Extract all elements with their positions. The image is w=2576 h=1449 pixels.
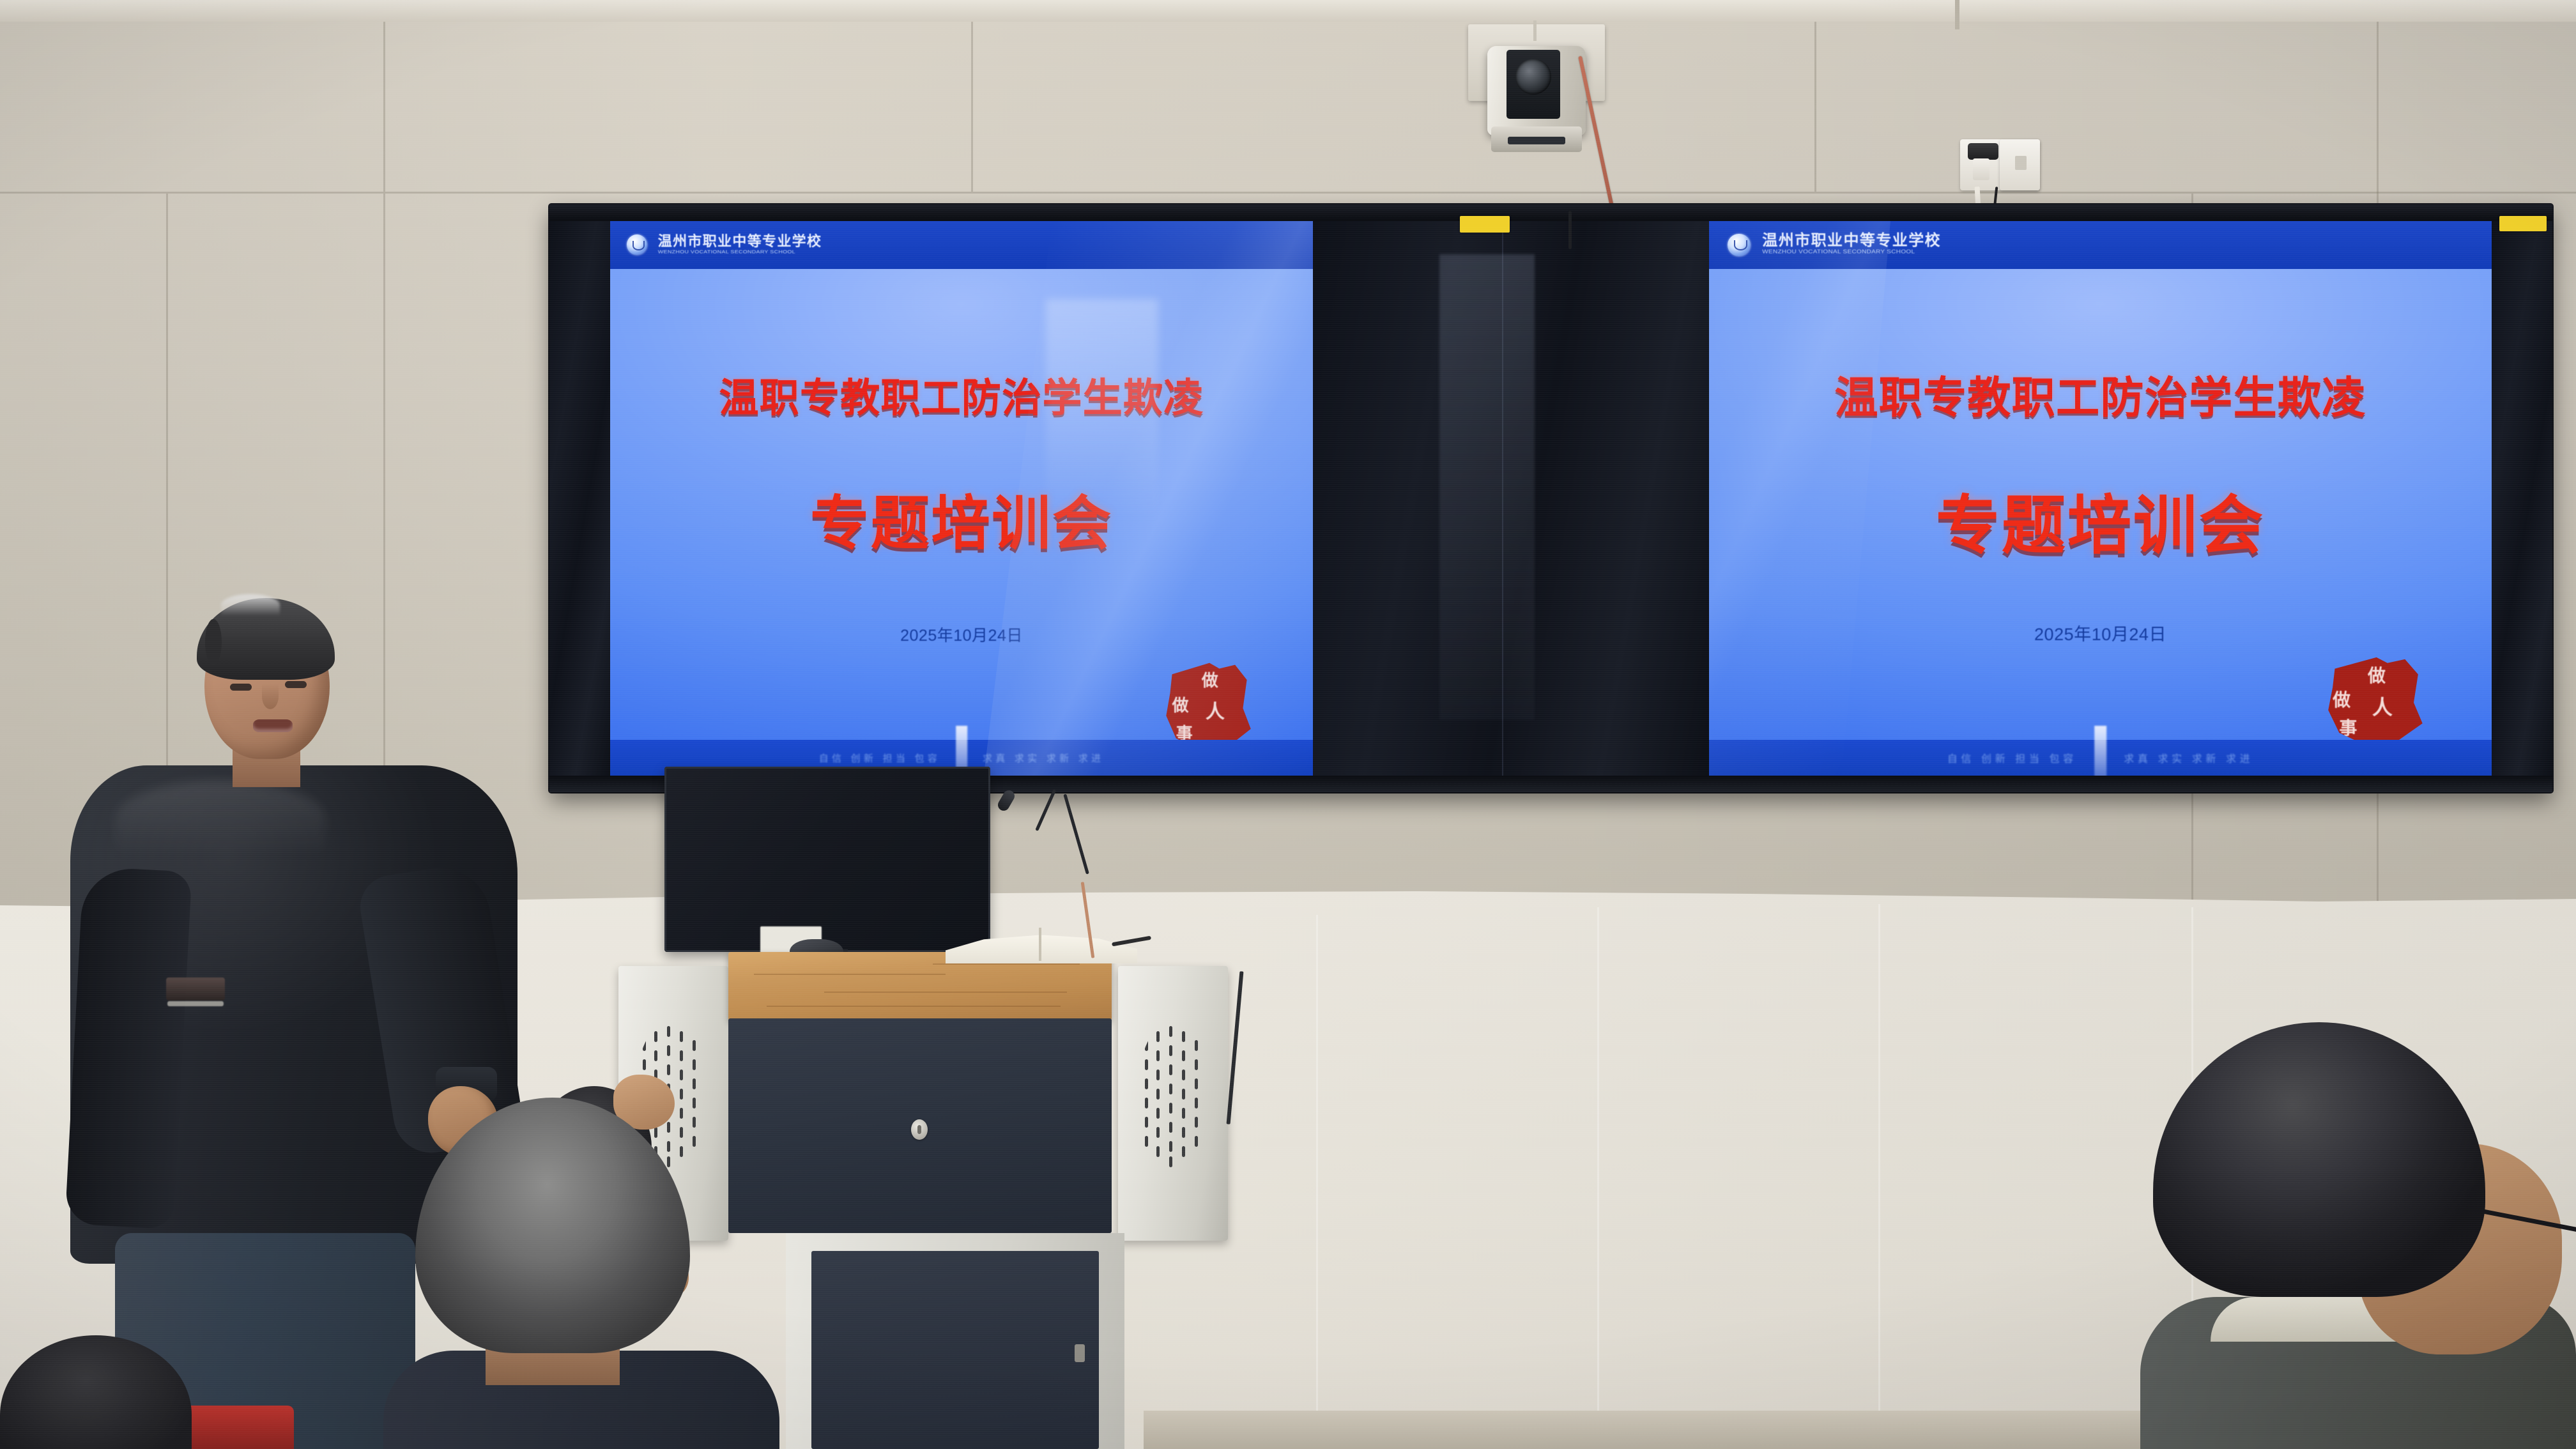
audience-member-grey-hair bbox=[377, 1098, 786, 1449]
chair-backrest[interactable] bbox=[179, 1406, 294, 1449]
desk-monitor[interactable] bbox=[664, 767, 990, 952]
school-name-cn: 温州市职业中等专业学校 bbox=[658, 234, 822, 249]
presenter-nose bbox=[262, 684, 279, 709]
slide-title-line1: 温职专教职工防治学生欺凌 bbox=[1709, 362, 2492, 425]
wall-seam bbox=[1597, 907, 1599, 1449]
slide-footer-left: 自信 创新 担当 包容 bbox=[1947, 750, 2077, 765]
seal-char-1: 做 bbox=[2368, 667, 2386, 685]
wall-seam bbox=[0, 192, 2576, 194]
seal-char-2: 做 bbox=[1172, 697, 1189, 714]
slide-header: 温州市职业中等专业学校 WENZHOU VOCATIONAL SECONDARY… bbox=[610, 221, 1313, 269]
outlet-socket bbox=[2015, 156, 2027, 170]
lectern-door-handle[interactable] bbox=[1075, 1344, 1085, 1362]
service-sticker bbox=[1460, 216, 1510, 233]
school-name-block: 温州市职业中等专业学校 WENZHOU VOCATIONAL SECONDARY… bbox=[658, 234, 822, 256]
camera-stalk bbox=[1533, 20, 1537, 41]
presenter-left-arm bbox=[65, 866, 192, 1229]
wall-seam bbox=[1878, 904, 1880, 1449]
power-plug-black bbox=[1968, 143, 1998, 160]
presenter-eye-right bbox=[285, 681, 307, 688]
monitor-back-panel bbox=[664, 767, 990, 952]
front-row-desk bbox=[1144, 1411, 2191, 1449]
school-name-en: WENZHOU VOCATIONAL SECONDARY SCHOOL bbox=[1762, 250, 1941, 255]
slide-title-line2: 专题培训会 bbox=[610, 476, 1313, 561]
school-name-en: WENZHOU VOCATIONAL SECONDARY SCHOOL bbox=[658, 250, 822, 254]
wall-seam bbox=[1316, 915, 1318, 1449]
slide-footer: 自信 创新 担当 包容 求真 求实 求新 求进 bbox=[1709, 740, 2492, 776]
seal-char-1: 做 bbox=[1202, 672, 1218, 689]
speaker-grille-right bbox=[1140, 1021, 1209, 1174]
power-plug-white bbox=[1973, 158, 1989, 180]
presenter-shoulder-highlight bbox=[115, 781, 326, 857]
led-panel-left: 温州市职业中等专业学校 WENZHOU VOCATIONAL SECONDARY… bbox=[610, 221, 1313, 776]
audience-hair bbox=[415, 1098, 690, 1353]
school-crest-icon bbox=[627, 234, 647, 255]
audience-hair bbox=[2153, 1022, 2485, 1297]
presenter-eye-left bbox=[230, 684, 252, 691]
audience-member-glasses bbox=[2115, 1022, 2576, 1449]
led-panel-dark-right bbox=[2492, 221, 2552, 776]
led-wall-top-bezel bbox=[549, 204, 2552, 221]
lectern-cabinet-door[interactable] bbox=[811, 1251, 1099, 1449]
ptz-camera bbox=[1482, 31, 1591, 155]
slide-title-line2: 专题培训会 bbox=[1709, 473, 2492, 566]
slide-date: 2025年10月24日 bbox=[610, 623, 1313, 646]
audience-hair bbox=[0, 1335, 192, 1449]
school-name-block: 温州市职业中等专业学校 WENZHOU VOCATIONAL SECONDARY… bbox=[1762, 233, 1941, 256]
seal-char-2: 做 bbox=[2333, 691, 2350, 709]
slide-footer-right: 求真 求实 求新 求进 bbox=[2124, 750, 2253, 765]
panel-seam bbox=[1502, 221, 1503, 776]
ceiling-rod bbox=[1955, 0, 1959, 29]
seal-char-4: 事 bbox=[1176, 725, 1193, 742]
camera-lens-icon bbox=[1515, 59, 1551, 95]
meeting-room-photo: 温州市职业中等专业学校 WENZHOU VOCATIONAL SECONDARY… bbox=[0, 0, 2576, 1449]
wall-seam bbox=[383, 22, 385, 192]
slide-footer-right: 求真 求实 求新 求进 bbox=[983, 751, 1104, 765]
school-name-cn: 温州市职业中等专业学校 bbox=[1762, 233, 1941, 249]
wall-seam bbox=[971, 22, 973, 192]
service-sticker bbox=[2499, 216, 2547, 231]
led-video-wall: 温州市职业中等专业学校 WENZHOU VOCATIONAL SECONDARY… bbox=[549, 204, 2552, 792]
slide-date: 2025年10月24日 bbox=[1709, 620, 2492, 645]
wall-power-outlet[interactable] bbox=[1960, 139, 2040, 190]
lectern-speaker-tower-right bbox=[1118, 966, 1228, 1241]
camera-vent-slot bbox=[1508, 137, 1565, 144]
slide-title-line1: 温职专教职工防治学生欺凌 bbox=[610, 365, 1313, 423]
seal-char-3: 人 bbox=[2372, 697, 2393, 717]
led-panel-dark-left bbox=[549, 221, 610, 776]
school-crest-icon bbox=[1728, 234, 1751, 257]
sweatshirt-logo-patch bbox=[166, 977, 225, 1000]
presenter-hair-highlight bbox=[221, 594, 280, 616]
ceiling-strip bbox=[0, 0, 2576, 22]
slide-header: 温州市职业中等专业学校 WENZHOU VOCATIONAL SECONDARY… bbox=[1709, 221, 2492, 269]
notebook-spine bbox=[1039, 928, 1041, 961]
slide-footer-mark bbox=[2094, 726, 2107, 776]
led-panel-center-off bbox=[1313, 221, 1709, 776]
slide-footer-left: 自信 创新 担当 包容 bbox=[819, 751, 940, 765]
led-panel-right: 温州市职业中等专业学校 WENZHOU VOCATIONAL SECONDARY… bbox=[1709, 221, 2492, 776]
panel-reflection bbox=[1439, 254, 1535, 720]
lectern-lock-icon[interactable] bbox=[911, 1119, 928, 1140]
wall-seam bbox=[1814, 22, 1816, 192]
seal-char-3: 人 bbox=[1206, 703, 1225, 722]
audience-member-partial bbox=[0, 1335, 192, 1449]
presenter-mouth bbox=[253, 719, 293, 732]
hanging-cable bbox=[1568, 211, 1572, 249]
